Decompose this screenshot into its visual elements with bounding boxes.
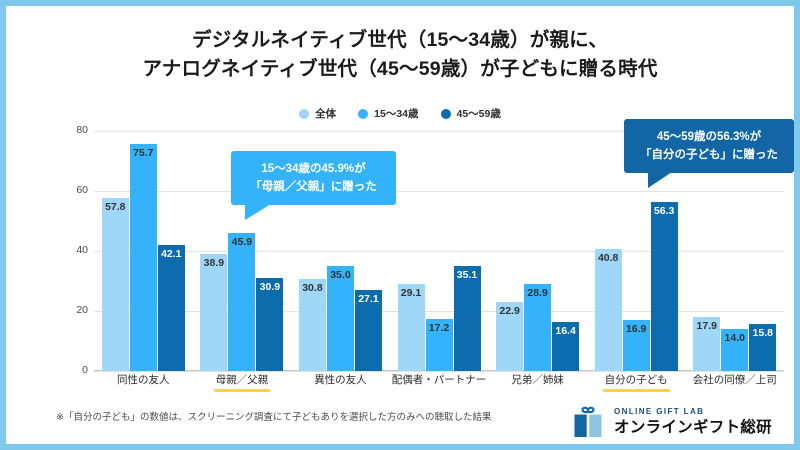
bar-value-label: 35.1 xyxy=(457,269,477,281)
legend-label: 15〜34歳 xyxy=(374,106,418,121)
bar-value-label: 16.4 xyxy=(555,325,575,337)
y-axis-tick-label: 80 xyxy=(48,124,88,136)
x-axis-label: 兄弟／姉妹 xyxy=(488,372,587,393)
legend-item-young[interactable]: 15〜34歳 xyxy=(358,106,418,121)
bar-value-label: 30.8 xyxy=(302,282,322,294)
page-title-line-2: アナログネイティブ世代（45〜59歳）が子どもに贈る時代 xyxy=(6,55,794,84)
bar-value-label: 17.9 xyxy=(697,320,717,332)
brand-logo-text: ONLINE GIFT LAB オンラインギフト総研 xyxy=(614,408,772,436)
page-title: デジタルネイティブ世代（15〜34歳）が親に、 アナログネイティブ世代（45〜5… xyxy=(6,26,794,84)
bar[interactable]: 30.8 xyxy=(299,279,326,371)
bar[interactable]: 40.8 xyxy=(595,249,622,371)
callout-line-1: 45〜59歳の56.3%が xyxy=(634,128,784,146)
bar[interactable]: 35.1 xyxy=(454,266,481,371)
bar[interactable]: 28.9 xyxy=(524,284,551,371)
bar[interactable]: 57.8 xyxy=(102,198,129,371)
bar[interactable]: 27.1 xyxy=(355,290,382,371)
x-axis-label: 配偶者・パートナー xyxy=(390,372,489,393)
x-axis-label: 会社の同僚／上司 xyxy=(685,372,784,393)
callout-line-2: 「自分の子ども」に贈った xyxy=(634,146,784,164)
bar-value-label: 57.8 xyxy=(105,201,125,213)
bar-value-label: 75.7 xyxy=(133,147,153,159)
bar[interactable]: 42.1 xyxy=(158,245,185,371)
footnote: ※「自分の子ども」の数値は、スクリーニング調査にて子どもありを選択した方のみへの… xyxy=(56,409,491,423)
x-axis-label: 母親／父親 xyxy=(193,372,292,393)
bar[interactable]: 38.9 xyxy=(200,254,227,371)
x-axis-labels: 同性の友人母親／父親異性の友人配偶者・パートナー兄弟／姉妹自分の子ども会社の同僚… xyxy=(94,372,784,393)
x-axis-label-text: 会社の同僚／上司 xyxy=(693,372,777,387)
bar-value-label: 27.1 xyxy=(358,293,378,305)
bar[interactable]: 17.2 xyxy=(426,319,453,371)
bar-value-label: 45.9 xyxy=(232,236,252,248)
bar[interactable]: 75.7 xyxy=(130,144,157,371)
bar-value-label: 29.1 xyxy=(401,287,421,299)
bar-value-label: 22.9 xyxy=(499,305,519,317)
bar[interactable]: 16.4 xyxy=(552,322,579,371)
callout-young-parents: 15〜34歳の45.9%が 「母親／父親」に贈った xyxy=(231,151,396,205)
gift-box-icon xyxy=(571,406,605,438)
bar-value-label: 40.8 xyxy=(598,252,618,264)
bar[interactable]: 35.0 xyxy=(327,266,354,371)
x-axis-label-text: 母親／父親 xyxy=(216,372,269,387)
x-axis-label-text: 配偶者・パートナー xyxy=(392,372,487,387)
x-axis-label-text: 兄弟／姉妹 xyxy=(511,372,564,387)
bar-value-label: 15.8 xyxy=(753,327,773,339)
callout-tail-icon xyxy=(648,172,672,188)
bar[interactable]: 56.3 xyxy=(651,202,678,371)
bar-value-label: 56.3 xyxy=(654,205,674,217)
bar-value-label: 30.9 xyxy=(260,281,280,293)
bar-value-label: 14.0 xyxy=(725,332,745,344)
x-axis-label: 同性の友人 xyxy=(94,372,193,393)
x-axis-label: 異性の友人 xyxy=(291,372,390,393)
legend-item-older[interactable]: 45〜59歳 xyxy=(441,106,501,121)
callout-older-children: 45〜59歳の56.3%が 「自分の子ども」に贈った xyxy=(624,119,794,173)
bar-value-label: 38.9 xyxy=(204,257,224,269)
bar[interactable]: 29.1 xyxy=(398,284,425,371)
bar[interactable]: 30.9 xyxy=(256,278,283,371)
bar-group: 57.875.742.1 xyxy=(94,131,193,371)
legend-swatch-icon xyxy=(299,109,309,119)
y-axis-tick-label: 40 xyxy=(48,244,88,256)
bar-value-label: 28.9 xyxy=(527,287,547,299)
bar-value-label: 17.2 xyxy=(429,322,449,334)
bar-value-label: 42.1 xyxy=(161,248,181,260)
callout-line-1: 15〜34歳の45.9%が xyxy=(241,160,386,178)
y-axis-tick-label: 0 xyxy=(48,364,88,376)
x-axis-label-text: 同性の友人 xyxy=(117,372,170,387)
bar[interactable]: 16.9 xyxy=(623,320,650,371)
bar-group: 29.117.235.1 xyxy=(390,131,489,371)
bar-value-label: 35.0 xyxy=(330,269,350,281)
bar[interactable]: 45.9 xyxy=(228,233,255,371)
bar[interactable]: 15.8 xyxy=(749,324,776,371)
brand-name-jp: オンラインギフト総研 xyxy=(614,420,772,436)
brand-logo: ONLINE GIFT LAB オンラインギフト総研 xyxy=(571,406,772,438)
bar[interactable]: 17.9 xyxy=(693,317,720,371)
legend-swatch-icon xyxy=(358,109,368,119)
legend-label: 全体 xyxy=(315,106,336,121)
callout-tail-icon xyxy=(245,204,271,220)
bar[interactable]: 14.0 xyxy=(721,329,748,371)
y-axis-tick-label: 60 xyxy=(48,184,88,196)
chart-card: デジタルネイティブ世代（15〜34歳）が親に、 アナログネイティブ世代（45〜5… xyxy=(6,6,794,444)
x-axis-label-text: 異性の友人 xyxy=(314,372,367,387)
x-axis-label-text: 自分の子ども xyxy=(605,372,668,387)
bar-value-label: 16.9 xyxy=(626,323,646,335)
x-axis-label: 自分の子ども xyxy=(587,372,686,393)
page-title-line-1: デジタルネイティブ世代（15〜34歳）が親に、 xyxy=(6,26,794,55)
callout-line-2: 「母親／父親」に贈った xyxy=(241,178,386,196)
legend-swatch-icon xyxy=(441,109,451,119)
bar[interactable]: 22.9 xyxy=(496,302,523,371)
brand-name-en: ONLINE GIFT LAB xyxy=(614,408,772,416)
legend-label: 45〜59歳 xyxy=(457,106,501,121)
legend-item-all[interactable]: 全体 xyxy=(299,106,336,121)
bar-group: 22.928.916.4 xyxy=(488,131,587,371)
y-axis-tick-label: 20 xyxy=(48,304,88,316)
